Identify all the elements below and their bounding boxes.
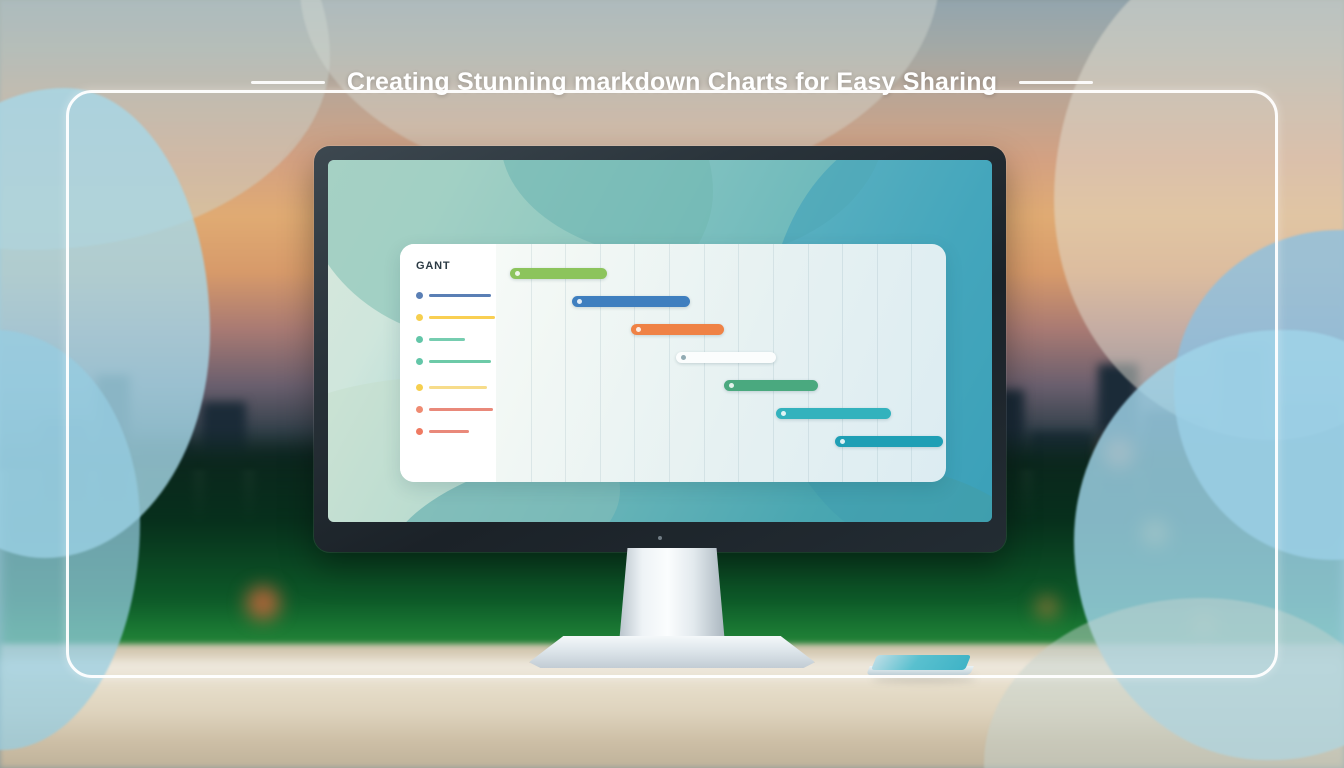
monitor-bezel: GANT — [314, 146, 1006, 552]
grid-line — [773, 244, 774, 482]
legend-dot-icon — [416, 406, 423, 413]
tablet-shadow — [872, 675, 976, 682]
legend-bar — [429, 360, 491, 363]
gantt-bar[interactable] — [510, 268, 607, 279]
webcam-icon — [658, 536, 662, 540]
grid-line — [738, 244, 739, 482]
monitor-screen: GANT — [328, 160, 992, 522]
headline-row: Creating Stunning markdown Charts for Ea… — [0, 68, 1344, 97]
grid-line — [600, 244, 601, 482]
grid-line — [531, 244, 532, 482]
gantt-bar-handle[interactable] — [729, 383, 734, 388]
gantt-title: GANT — [416, 260, 496, 272]
legend-item[interactable] — [416, 311, 496, 324]
gantt-bar-handle[interactable] — [681, 355, 686, 360]
desk-tablet — [868, 655, 974, 681]
legend-dot-icon — [416, 336, 423, 343]
legend-bar — [429, 338, 465, 341]
legend-dot-icon — [416, 428, 423, 435]
monitor: GANT — [314, 146, 1006, 552]
legend-item[interactable] — [416, 381, 496, 394]
tablet-screen — [871, 655, 971, 670]
gantt-bar[interactable] — [676, 352, 776, 363]
dash-right-icon — [1019, 81, 1093, 84]
gantt-bar[interactable] — [724, 380, 817, 391]
grid-line — [704, 244, 705, 482]
legend-item[interactable] — [416, 425, 496, 438]
grid-line — [565, 244, 566, 482]
gantt-plot-area — [496, 244, 946, 482]
gantt-legend — [416, 289, 496, 438]
monitor-stand-neck — [619, 548, 725, 644]
gantt-bar-handle[interactable] — [636, 327, 641, 332]
dash-left-icon — [251, 81, 325, 84]
legend-item[interactable] — [416, 289, 496, 302]
gantt-bar[interactable] — [835, 436, 942, 447]
legend-bar — [429, 408, 493, 411]
legend-dot-icon — [416, 292, 423, 299]
gantt-bar-handle[interactable] — [515, 271, 520, 276]
grid-line — [634, 244, 635, 482]
gantt-bar[interactable] — [631, 324, 724, 335]
gantt-sidebar: GANT — [400, 244, 496, 482]
grid-line — [808, 244, 809, 482]
grid-line — [669, 244, 670, 482]
legend-dot-icon — [416, 384, 423, 391]
gantt-card[interactable]: GANT — [400, 244, 946, 482]
legend-dot-icon — [416, 358, 423, 365]
bokeh-light — [1036, 596, 1058, 618]
legend-bar — [429, 430, 469, 433]
gantt-bar-handle[interactable] — [577, 299, 582, 304]
gantt-bar[interactable] — [776, 408, 890, 419]
legend-dot-icon — [416, 314, 423, 321]
legend-bar — [429, 386, 487, 389]
legend-item[interactable] — [416, 355, 496, 368]
gantt-bar[interactable] — [572, 296, 690, 307]
legend-bar — [429, 316, 495, 319]
gantt-bar-handle[interactable] — [781, 411, 786, 416]
legend-bar — [429, 294, 491, 297]
monitor-stand-base — [529, 636, 815, 668]
legend-item[interactable] — [416, 403, 496, 416]
gantt-bar-handle[interactable] — [840, 439, 845, 444]
bokeh-light — [246, 586, 280, 620]
page-title: Creating Stunning markdown Charts for Ea… — [347, 68, 997, 97]
legend-item[interactable] — [416, 333, 496, 346]
